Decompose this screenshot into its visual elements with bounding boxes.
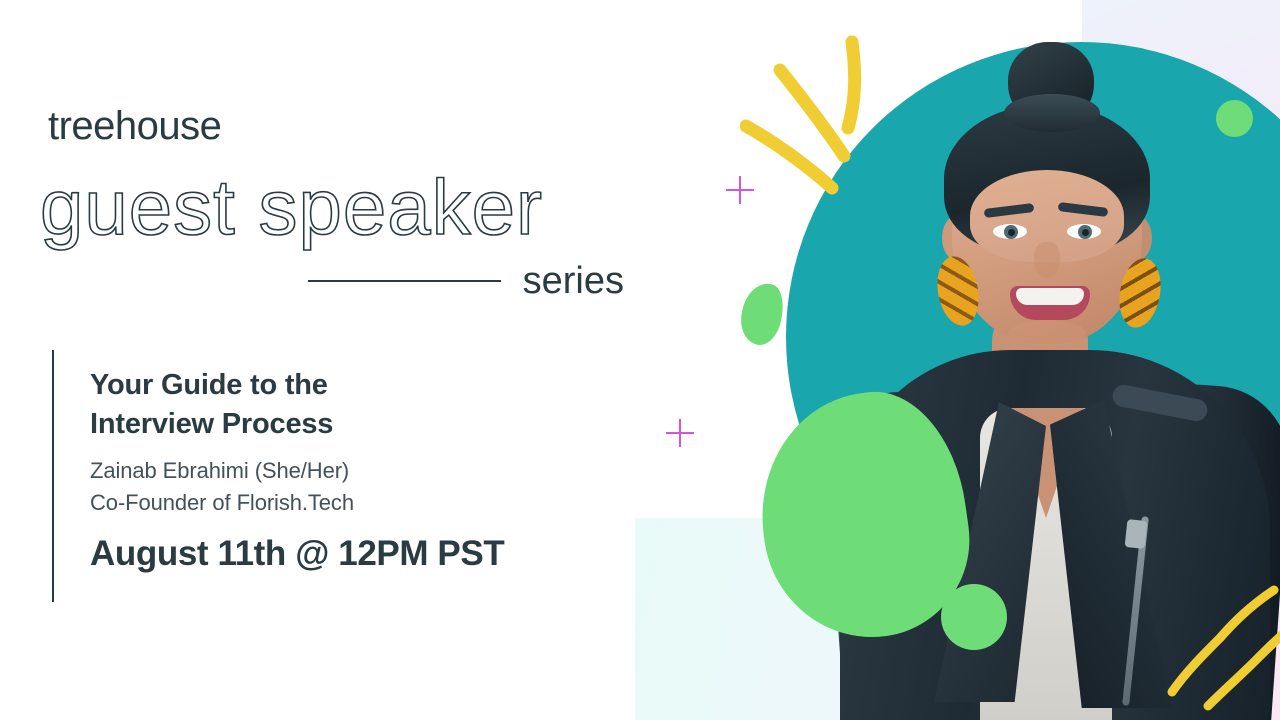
series-row: series bbox=[308, 258, 624, 304]
event-details: Your Guide to the Interview Process Zain… bbox=[90, 366, 610, 573]
pupil-left bbox=[1008, 229, 1015, 236]
speaker-name: Zainab Ebrahimi (She/Her) bbox=[90, 455, 610, 487]
teeth bbox=[1016, 288, 1084, 305]
jacket-zipper-pull bbox=[1125, 519, 1148, 549]
nose bbox=[1034, 242, 1060, 278]
sparkle-strokes-icon bbox=[740, 30, 930, 230]
hair-bun-base bbox=[1004, 94, 1100, 132]
speaker-role: Co-Founder of Florish.Tech bbox=[90, 487, 610, 519]
green-circle-top-right bbox=[1216, 100, 1253, 137]
plus-mark-icon-top bbox=[726, 176, 754, 204]
squiggle-lines-icon bbox=[1150, 580, 1280, 720]
info-vertical-rule bbox=[52, 350, 54, 602]
headline-outline-text: guest speaker bbox=[40, 168, 543, 246]
green-blob-small bbox=[736, 280, 788, 349]
chin bbox=[1008, 320, 1086, 346]
pupil-right bbox=[1082, 229, 1089, 236]
series-label: series bbox=[523, 262, 624, 300]
plus-mark-icon-middle bbox=[666, 419, 694, 447]
promo-graphic: treehouse guest speaker series Your Guid… bbox=[0, 0, 1280, 720]
event-title: Your Guide to the Interview Process bbox=[90, 366, 610, 443]
series-divider-rule bbox=[308, 280, 501, 282]
brand-wordmark: treehouse bbox=[48, 106, 221, 146]
green-circle-bottom bbox=[941, 584, 1007, 650]
event-datetime: August 11th @ 12PM PST bbox=[90, 535, 610, 574]
